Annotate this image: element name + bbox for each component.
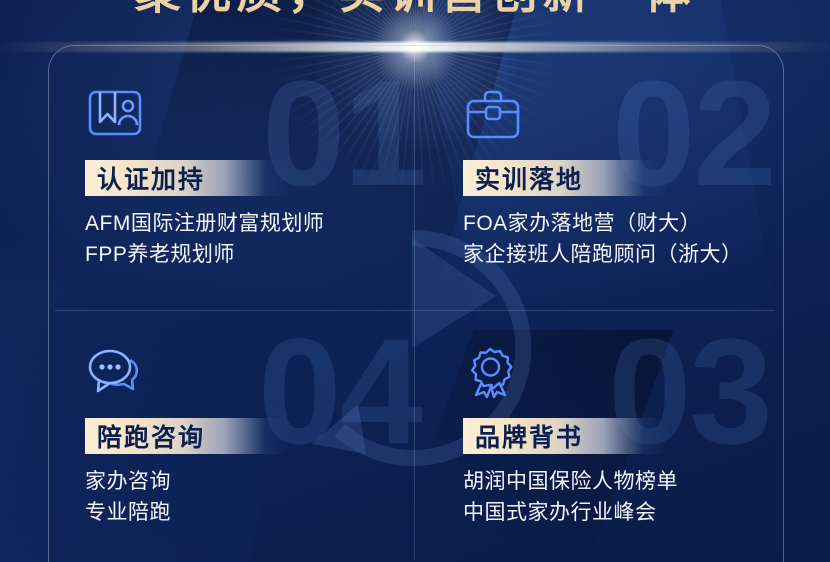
feature-line: AFM国际注册财富规划师	[85, 208, 415, 239]
feature-line: 家办咨询	[85, 466, 415, 497]
feature-line: FPP养老规划师	[85, 239, 415, 270]
feature-card-1[interactable]: 认证加持 AFM国际注册财富规划师 FPP养老规划师	[85, 88, 415, 270]
feature-label-2: 实训落地	[475, 160, 583, 196]
feature-card-4[interactable]: 品牌背书 胡润中国保险人物榜单 中国式家办行业峰会	[463, 346, 793, 528]
feature-label-3: 陪跑咨询	[97, 418, 205, 454]
feature-description-3: 家办咨询 专业陪跑	[85, 466, 415, 528]
feature-line: 中国式家办行业峰会	[463, 497, 793, 528]
feature-line: 家企接班人陪跑顾问（浙大）	[463, 239, 793, 270]
feature-label-band-2: 实训落地	[463, 160, 668, 196]
feature-description-1: AFM国际注册财富规划师 FPP养老规划师	[85, 208, 415, 270]
feature-card-2[interactable]: 实训落地 FOA家办落地营（财大） 家企接班人陪跑顾问（浙大）	[463, 88, 793, 270]
feature-line: 胡润中国保险人物榜单	[463, 466, 793, 497]
poster-canvas: 01 02 04 03 聚优质，实训营创新一体	[0, 0, 830, 562]
feature-description-2: FOA家办落地营（财大） 家企接班人陪跑顾问（浙大）	[463, 208, 793, 270]
feature-label-band-1: 认证加持	[85, 160, 290, 196]
feature-description-4: 胡润中国保险人物榜单 中国式家办行业峰会	[463, 466, 793, 528]
chat-bubbles-icon	[85, 346, 145, 404]
feature-label-1: 认证加持	[97, 160, 205, 196]
feature-card-3[interactable]: 陪跑咨询 家办咨询 专业陪跑	[85, 346, 415, 528]
feature-line: FOA家办落地营（财大）	[463, 208, 793, 239]
feature-line: 专业陪跑	[85, 497, 415, 528]
feature-label-band-4: 品牌背书	[463, 418, 668, 454]
briefcase-icon	[463, 88, 523, 146]
feature-label-band-3: 陪跑咨询	[85, 418, 290, 454]
certificate-card-icon	[85, 88, 145, 146]
feature-label-4: 品牌背书	[475, 418, 583, 454]
feature-grid: 认证加持 AFM国际注册财富规划师 FPP养老规划师 实训落地	[0, 0, 830, 562]
award-rosette-icon	[463, 346, 523, 404]
